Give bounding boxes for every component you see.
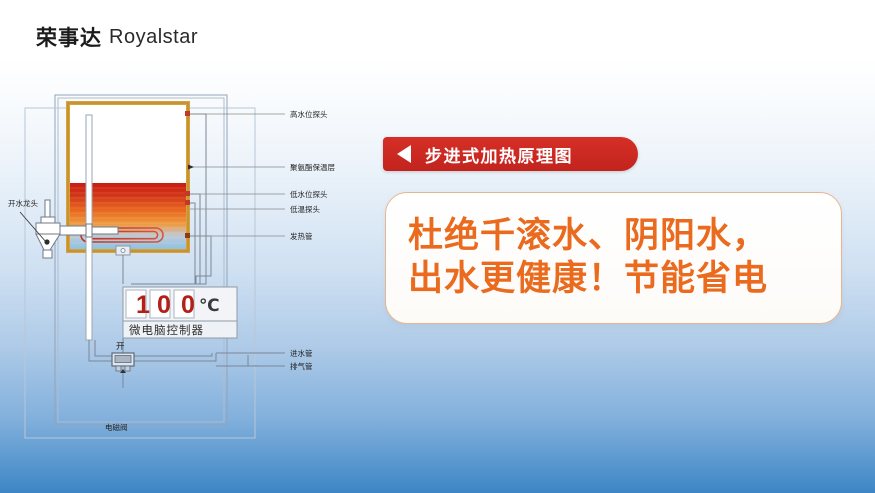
section-banner: 步进式加热原理图 [383,137,638,171]
label-polyurethane-insulation-layer: 聚氨酯保温层 [290,162,335,172]
slide-canvas: 荣事达 Royalstar [0,0,875,493]
label-heating-tube: 发热管 [290,231,313,241]
heating-principle-diagram: 开水龙头 1 0 0 ℃ 微电脑控制器 [0,70,400,490]
display-unit: ℃ [199,296,220,316]
label-solenoid-valve: 电磁阀 [105,422,128,432]
label-valve-state: 开 [116,342,125,352]
brand-logo-cn: 荣事达 [36,22,102,52]
solenoid-valve[interactable] [112,353,134,373]
label-low-temperature-probe: 低温探头 [290,204,320,214]
headline-callout: 杜绝千滚水、阴阳水， 出水更健康！节能省电 [385,192,842,324]
display-digit-3: 0 [181,291,195,319]
banner-title: 步进式加热原理图 [425,142,573,167]
label-boiling-water-faucet: 开水龙头 [8,198,38,208]
label-high-water-level-probe: 高水位探头 [290,109,328,119]
leader-arrow-markers [188,165,194,170]
triangle-left-icon [397,145,411,163]
display-caption: 微电脑控制器 [129,323,204,337]
brand-logo: 荣事达 Royalstar [36,22,198,52]
display-digit-2: 0 [157,291,171,319]
right-leader-lines [190,114,285,236]
label-low-water-level-probe: 低水位探头 [290,189,328,199]
faucet-outlet-dot [44,239,49,244]
headline-line-2: 出水更健康！节能省电 [408,258,819,301]
label-exhaust-pipe: 排气管 [290,361,313,371]
tank-bottom-fitting [116,246,130,255]
display-digit-1: 1 [136,291,150,319]
inlet-exhaust-lines [216,353,285,366]
label-water-inlet-pipe: 进水管 [290,348,313,358]
brand-logo-en: Royalstar [109,26,198,49]
headline-line-1: 杜绝千滚水、阴阳水， [408,215,819,258]
